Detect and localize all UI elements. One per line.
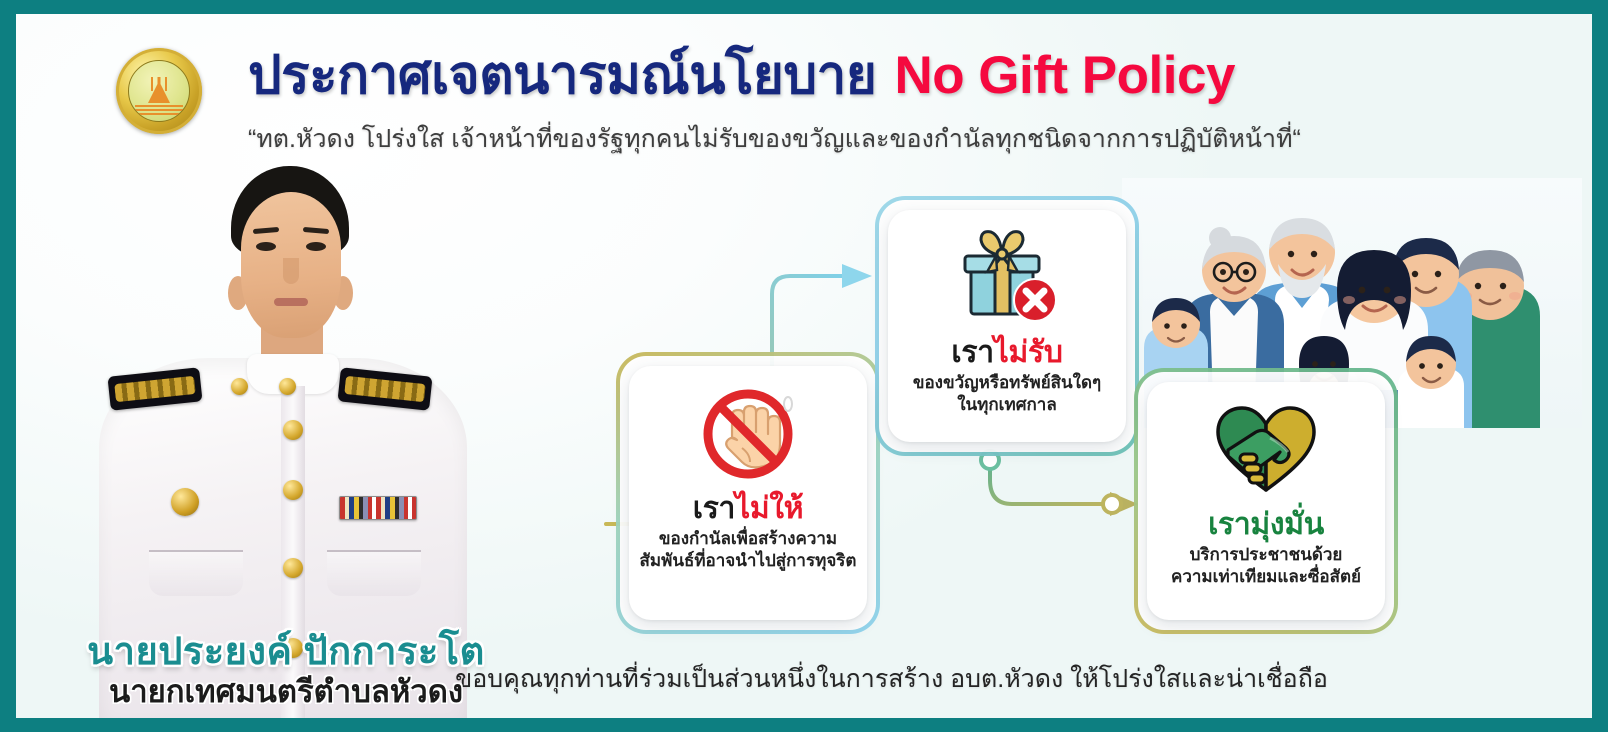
mayor-name: นายประยงค์ ปักการะโต [76, 631, 496, 675]
card-title-prefix: เรา [693, 492, 735, 525]
service-ribbons-icon [339, 496, 417, 520]
thanks-message-text: ขอบคุณทุกท่านที่ร่วมเป็นส่วนหนึ่งในการสร… [455, 665, 1328, 693]
card-sub-line-1: ของกำนัลเพื่อสร้างความ [639, 528, 857, 550]
card-sub-line-2: สัมพันธ์ที่อาจนำไปสู่การทุจริต [639, 550, 857, 572]
banner-panel: ประกาศเจตนารมณ์นโยบายNo Gift Policy “ทต.… [16, 14, 1592, 718]
municipal-seal-icon [116, 48, 202, 134]
gift-forbidden-icon [888, 224, 1126, 332]
card-title-no-give: เราไม่ให้ [629, 492, 867, 525]
card-sub-line-2: ความเท่าเทียมและซื่อสัตย์ [1157, 566, 1375, 588]
card-sub-no-accept: ของขวัญหรือทรัพย์สินใดๆ ในทุกเทศกาล [888, 372, 1126, 416]
card-no-give[interactable]: เราไม่ให้ ของกำนัลเพื่อสร้างความ สัมพันธ… [629, 366, 867, 620]
mayor-name-block: นายประยงค์ ปักการะโต นายกเทศมนตรีตำบลหัว… [76, 631, 496, 710]
card-sub-line-1: ของขวัญหรือทรัพย์สินใดๆ [898, 372, 1116, 394]
handshake-heart-icon [1147, 396, 1385, 504]
page-title-thai: ประกาศเจตนารมณ์นโยบาย [248, 46, 876, 105]
card-title-prefix: เรา [951, 336, 993, 369]
card-committed[interactable]: เรามุ่งมั่น บริการประชาชนด้วย ความเท่าเท… [1147, 382, 1385, 620]
uniform-emblem-icon [171, 488, 199, 516]
card-title-accent: ไม่รับ [994, 336, 1063, 369]
card-title-accent: ไม่ให้ [735, 492, 803, 525]
page-title: ประกาศเจตนารมณ์นโยบายNo Gift Policy [248, 48, 1528, 104]
card-title-committed: เรามุ่งมั่น [1147, 508, 1385, 541]
card-sub-committed: บริการประชาชนด้วย ความเท่าเทียมและซื่อสั… [1147, 544, 1385, 588]
card-no-accept[interactable]: เราไม่รับ ของขวัญหรือทรัพย์สินใดๆ ในทุกเ… [888, 210, 1126, 442]
no-hand-icon [629, 380, 867, 488]
card-sub-line-2: ในทุกเทศกาล [898, 394, 1116, 416]
mayor-position: นายกเทศมนตรีตำบลหัวดง [76, 673, 496, 710]
banner-header: ประกาศเจตนารมณ์นโยบายNo Gift Policy “ทต.… [16, 14, 1592, 144]
card-title-no-accept: เราไม่รับ [888, 336, 1126, 369]
page-title-english: No Gift Policy [894, 46, 1234, 105]
card-sub-line-1: บริการประชาชนด้วย [1157, 544, 1375, 566]
card-sub-no-give: ของกำนัลเพื่อสร้างความ สัมพันธ์ที่อาจนำไ… [629, 528, 867, 572]
no-gift-policy-banner: ประกาศเจตนารมณ์นโยบายNo Gift Policy “ทต.… [0, 0, 1608, 732]
